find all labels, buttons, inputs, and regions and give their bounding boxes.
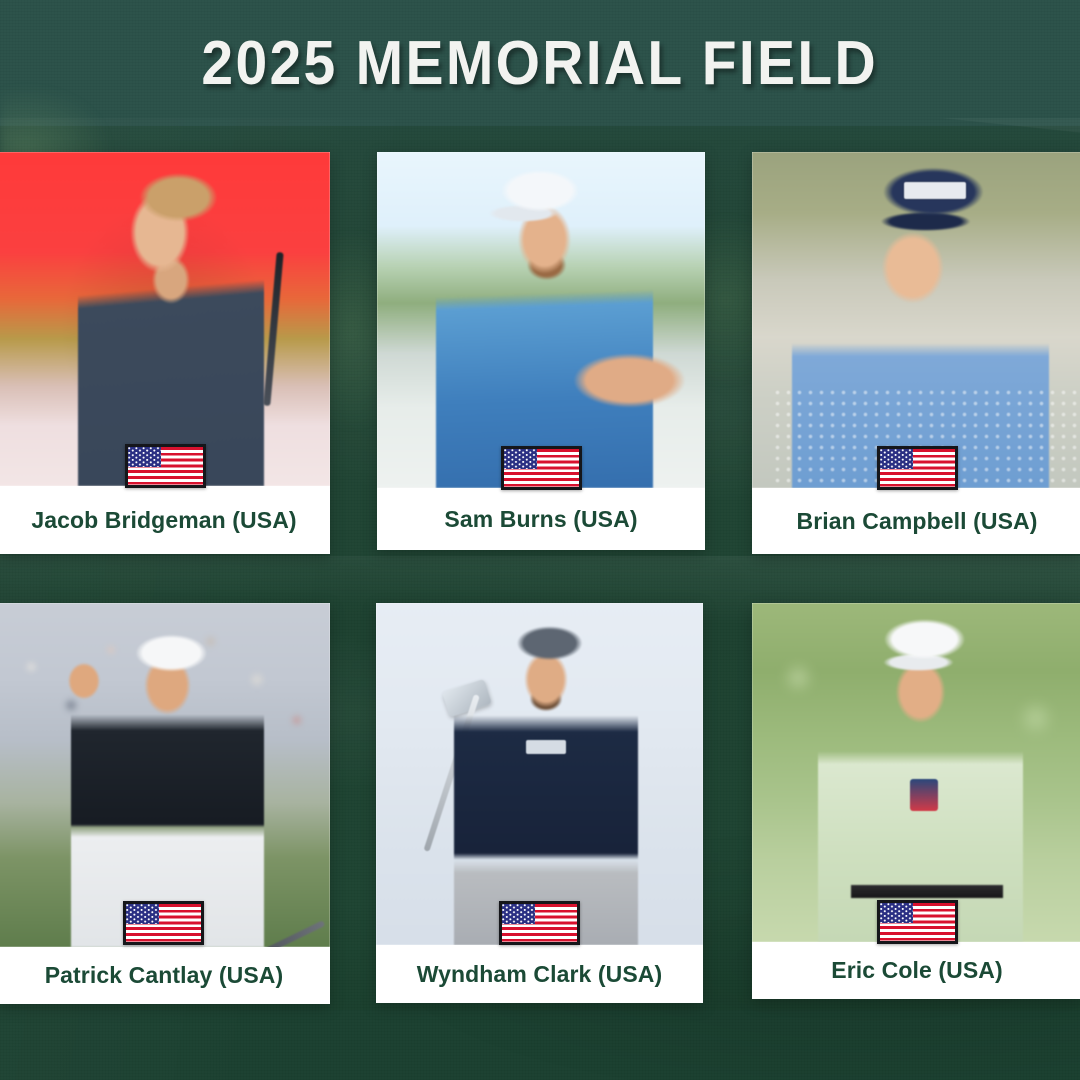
player-photo bbox=[752, 152, 1080, 488]
flag-canton bbox=[880, 449, 913, 469]
player-photo bbox=[376, 603, 703, 945]
usa-flag-icon bbox=[125, 444, 206, 488]
player-name-bar: Eric Cole (USA) bbox=[752, 942, 1080, 999]
flag-stars bbox=[128, 447, 161, 467]
player-name: Wyndham Clark (USA) bbox=[417, 961, 663, 988]
player-field-poster: 2025 MEMORIAL FIELD Jacob Bridgeman (USA… bbox=[0, 0, 1080, 1080]
flag-canton bbox=[128, 447, 161, 467]
photo-subject bbox=[454, 617, 637, 945]
player-name: Sam Burns (USA) bbox=[444, 506, 637, 533]
photo-backdrop bbox=[752, 603, 1080, 942]
player-name-bar: Patrick Cantlay (USA) bbox=[0, 947, 330, 1004]
player-photo bbox=[377, 152, 705, 488]
usa-flag-icon bbox=[123, 901, 204, 945]
photo-fist bbox=[64, 658, 104, 704]
flag-canton bbox=[502, 904, 535, 924]
photo-backdrop bbox=[376, 603, 703, 945]
belt bbox=[851, 885, 1003, 898]
player-card[interactable]: Jacob Bridgeman (USA) bbox=[0, 152, 330, 554]
player-card[interactable]: Eric Cole (USA) bbox=[752, 603, 1080, 999]
player-name-bar: Sam Burns (USA) bbox=[377, 488, 705, 550]
photo-backdrop bbox=[377, 152, 705, 488]
usa-flag-icon bbox=[499, 901, 580, 945]
player-name-bar: Brian Campbell (USA) bbox=[752, 488, 1080, 554]
photo-backdrop bbox=[0, 603, 330, 947]
player-name: Brian Campbell (USA) bbox=[797, 508, 1038, 535]
photo-backdrop bbox=[0, 152, 330, 486]
flag-stars bbox=[502, 904, 535, 924]
flag-canton bbox=[126, 904, 159, 924]
page-title: 2025 MEMORIAL FIELD bbox=[202, 28, 879, 99]
player-name: Patrick Cantlay (USA) bbox=[45, 962, 284, 989]
flag-canton bbox=[504, 449, 537, 469]
photo-backdrop bbox=[752, 152, 1080, 488]
chest-logo bbox=[910, 779, 938, 811]
golf-club bbox=[263, 252, 283, 406]
usa-flag-icon bbox=[877, 446, 958, 490]
player-photo bbox=[0, 152, 330, 486]
usa-flag-icon bbox=[501, 446, 582, 490]
player-name-bar: Wyndham Clark (USA) bbox=[376, 945, 703, 1003]
player-name: Jacob Bridgeman (USA) bbox=[31, 507, 296, 534]
player-card[interactable]: Patrick Cantlay (USA) bbox=[0, 603, 330, 1004]
usa-flag-icon bbox=[877, 900, 958, 944]
cap-logo bbox=[904, 182, 966, 199]
chest-logo bbox=[526, 740, 566, 754]
player-photo bbox=[752, 603, 1080, 942]
flag-stars bbox=[880, 903, 913, 923]
player-card[interactable]: Wyndham Clark (USA) bbox=[376, 603, 703, 1003]
flag-stars bbox=[504, 449, 537, 469]
player-name-bar: Jacob Bridgeman (USA) bbox=[0, 486, 330, 554]
player-card[interactable]: Sam Burns (USA) bbox=[377, 152, 705, 550]
flag-stars bbox=[126, 904, 159, 924]
flag-stars bbox=[880, 449, 913, 469]
player-name: Eric Cole (USA) bbox=[831, 957, 1002, 984]
player-photo bbox=[0, 603, 330, 947]
photo-arm bbox=[574, 340, 686, 421]
title-bar: 2025 MEMORIAL FIELD bbox=[0, 0, 1080, 126]
player-card[interactable]: Brian Campbell (USA) bbox=[752, 152, 1080, 554]
flag-canton bbox=[880, 903, 913, 923]
photo-subject bbox=[436, 165, 652, 488]
photo-subject bbox=[78, 169, 264, 486]
